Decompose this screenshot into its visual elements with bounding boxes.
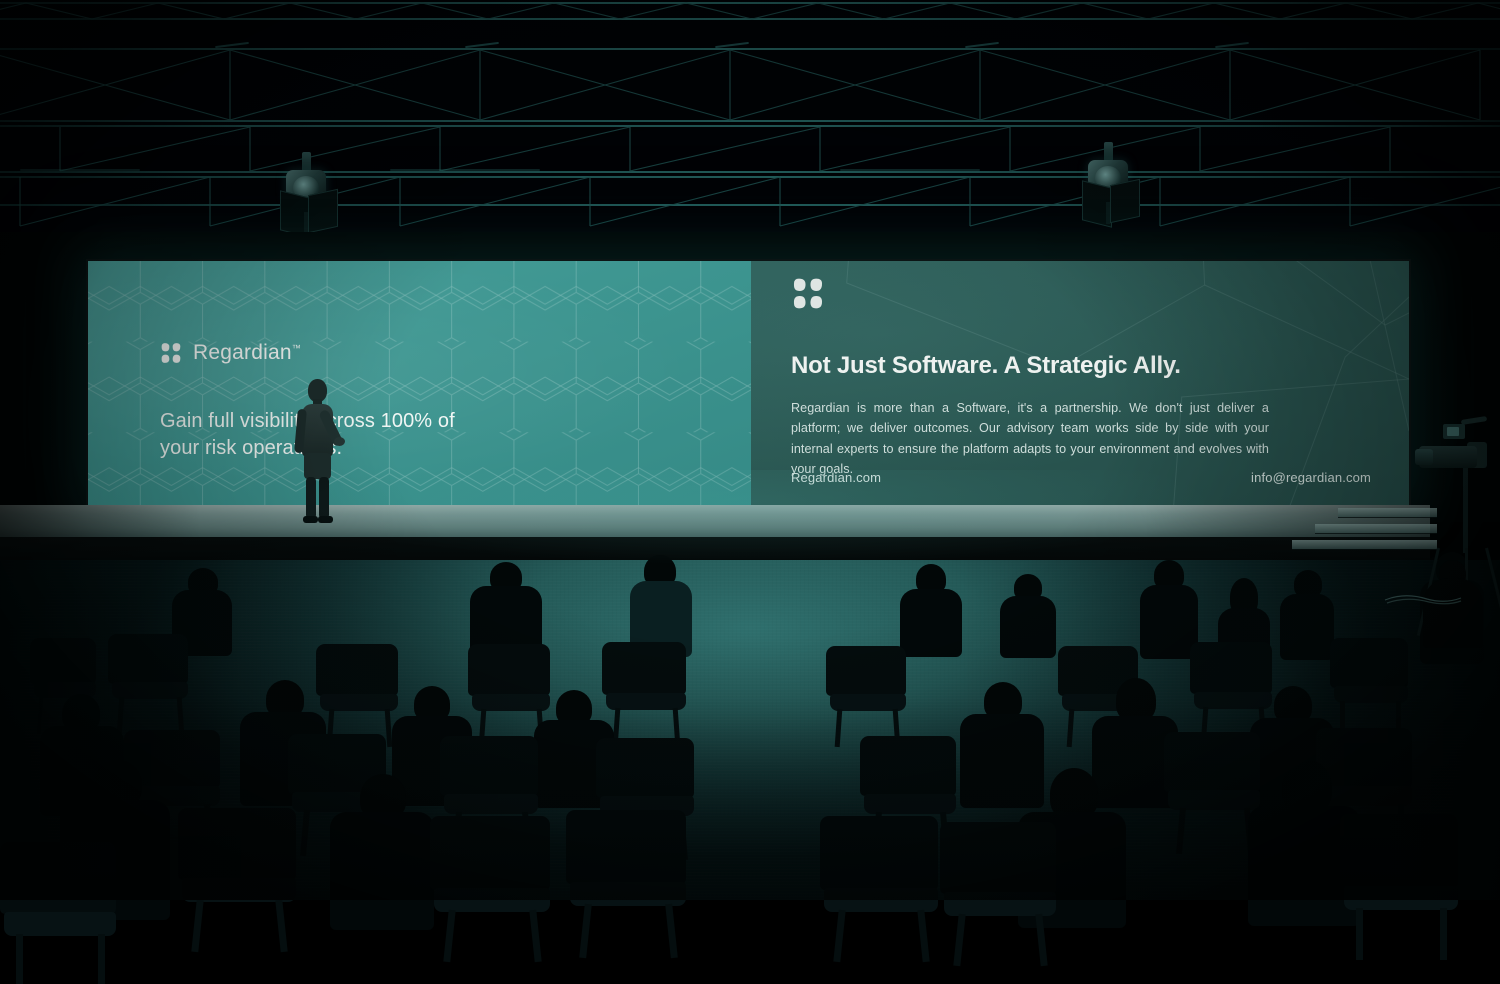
truss-row (0, 125, 1500, 173)
slide-left-panel: Regardian™ Gain full visibility across 1… (88, 261, 751, 505)
tripod-leg (1485, 548, 1500, 634)
stage-light-left-icon (276, 152, 336, 235)
camera-operator (1423, 578, 1483, 648)
stage-scene: Regardian™ Gain full visibility across 1… (0, 0, 1500, 900)
presentation-screen: Regardian™ Gain full visibility across 1… (86, 259, 1411, 507)
audience-floor (0, 560, 1500, 900)
truss-row (0, 176, 1500, 228)
floor-cables (1383, 590, 1463, 606)
brand-lockup: Regardian™ (160, 341, 630, 365)
brand-name: Regardian™ (193, 341, 301, 365)
camera-rig (1415, 408, 1500, 638)
website-link[interactable]: Regardian.com (791, 470, 881, 485)
tripod-column (1463, 468, 1468, 553)
stage-light-right-icon (1078, 142, 1138, 226)
presenter-silhouette (292, 379, 344, 523)
slide-right-content: Not Just Software. A Strategic Ally. Reg… (791, 277, 1371, 479)
lighting-truss (0, 0, 1500, 235)
slide-body-copy: Regardian is more than a Software, it's … (791, 398, 1269, 480)
regardian-logo-icon (160, 342, 182, 364)
slide-left-content: Regardian™ Gain full visibility across 1… (160, 341, 630, 461)
camera-viewfinder-icon (1443, 424, 1465, 439)
slide-headline: Not Just Software. A Strategic Ally. (791, 352, 1371, 381)
truss-row (0, 2, 1500, 20)
slide-footer: Regardian.com info@regardian.com (791, 470, 1371, 485)
email-link[interactable]: info@regardian.com (1251, 470, 1371, 485)
camera-microphone-icon (1461, 416, 1487, 425)
truss-row (0, 48, 1500, 122)
camera-lens-icon (1415, 449, 1433, 465)
trademark-symbol: ™ (292, 343, 301, 353)
stage-platform (0, 505, 1430, 537)
slide-right-panel: Not Just Software. A Strategic Ally. Reg… (751, 261, 1409, 505)
regardian-logo-icon (791, 277, 825, 310)
